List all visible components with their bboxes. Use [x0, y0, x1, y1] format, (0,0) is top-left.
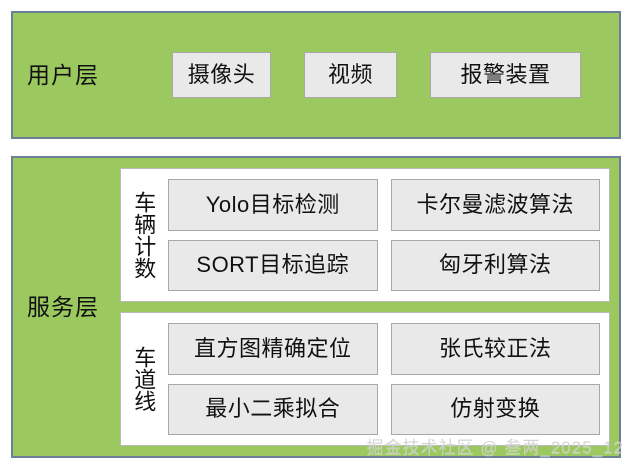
user-layer-panel: 用户层 摄像头 视频 报警装置 — [11, 11, 621, 139]
group-grid-vehicle-counting: Yolo目标检测 卡尔曼滤波算法 SORT目标追踪 匈牙利算法 — [165, 169, 609, 301]
chip-affine-transform[interactable]: 仿射变换 — [391, 384, 601, 436]
service-layer-label: 服务层 — [27, 296, 99, 319]
service-layer-panel: 服务层 车辆计数 Yolo目标检测 卡尔曼滤波算法 SORT目标追踪 匈牙利算法… — [11, 156, 621, 458]
group-vehicle-counting: 车辆计数 Yolo目标检测 卡尔曼滤波算法 SORT目标追踪 匈牙利算法 — [120, 168, 610, 302]
group-label-vehicle-counting: 车辆计数 — [121, 169, 165, 301]
chip-sort-tracking[interactable]: SORT目标追踪 — [168, 240, 378, 292]
chip-hungarian-algorithm[interactable]: 匈牙利算法 — [391, 240, 601, 292]
chip-histogram-localization[interactable]: 直方图精确定位 — [168, 323, 378, 375]
chip-kalman-filter[interactable]: 卡尔曼滤波算法 — [391, 179, 601, 231]
user-layer-chip-row: 摄像头 视频 报警装置 — [172, 52, 581, 98]
chip-zhang-calibration[interactable]: 张氏较正法 — [391, 323, 601, 375]
group-label-lane-line: 车道线 — [121, 313, 165, 445]
user-layer-label: 用户层 — [27, 64, 121, 87]
service-layer-groups: 车辆计数 Yolo目标检测 卡尔曼滤波算法 SORT目标追踪 匈牙利算法 车道线… — [120, 158, 619, 456]
chip-video[interactable]: 视频 — [304, 52, 397, 98]
chip-camera[interactable]: 摄像头 — [172, 52, 271, 98]
group-grid-lane-line: 直方图精确定位 张氏较正法 最小二乘拟合 仿射变换 — [165, 313, 609, 445]
chip-alarm-device[interactable]: 报警装置 — [430, 52, 581, 98]
group-lane-line: 车道线 直方图精确定位 张氏较正法 最小二乘拟合 仿射变换 — [120, 312, 610, 446]
chip-least-squares-fitting[interactable]: 最小二乘拟合 — [168, 384, 378, 436]
architecture-diagram: 用户层 摄像头 视频 报警装置 服务层 车辆计数 Yolo目标检测 卡尔曼滤波算… — [0, 0, 633, 468]
service-layer-label-wrap: 服务层 — [13, 158, 120, 456]
chip-yolo-detection[interactable]: Yolo目标检测 — [168, 179, 378, 231]
